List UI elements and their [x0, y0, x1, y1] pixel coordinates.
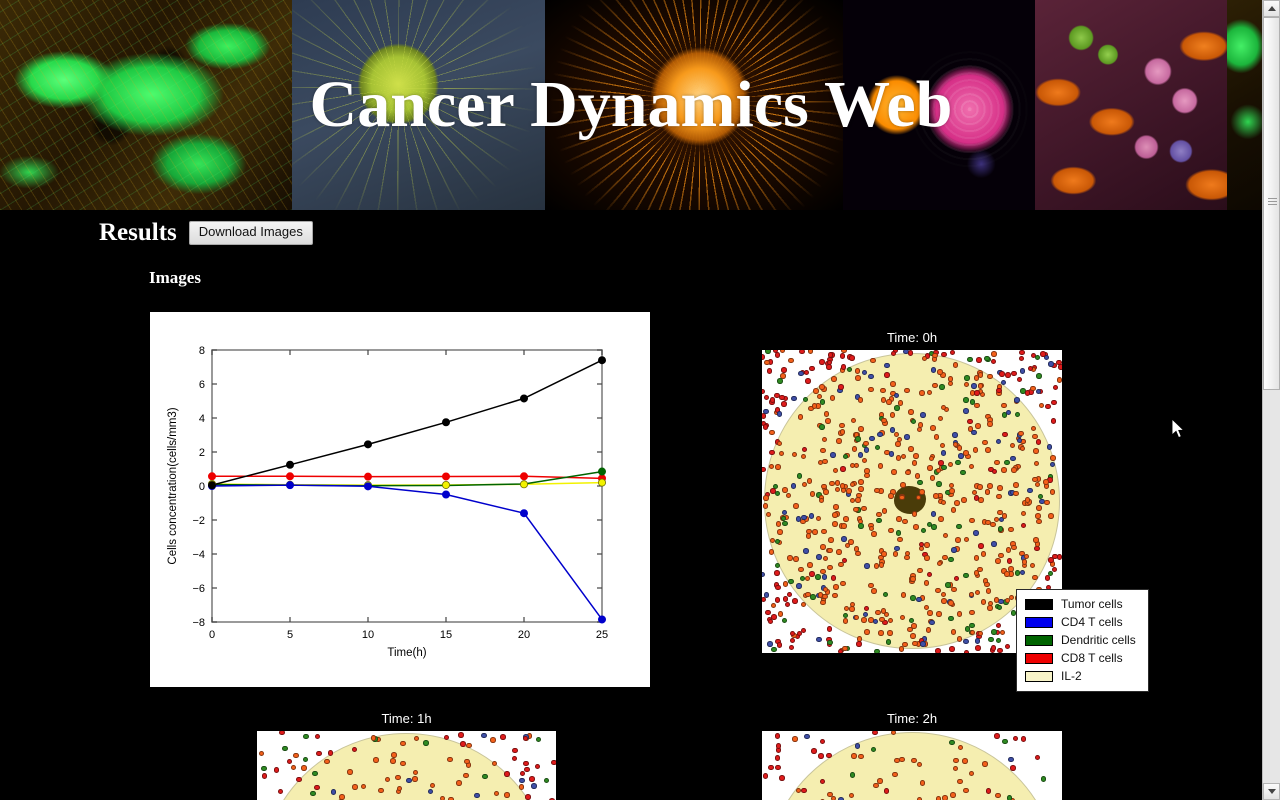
data-point — [520, 510, 527, 517]
cell-marker — [797, 473, 803, 479]
cell-marker — [994, 597, 1000, 603]
data-point — [598, 357, 605, 364]
cell-marker — [1000, 630, 1006, 636]
cell-marker — [1002, 739, 1008, 745]
cell-marker — [828, 537, 834, 543]
cell-marker — [1019, 350, 1025, 355]
cell-marker — [482, 774, 488, 780]
cell-marker — [880, 388, 886, 394]
cell-marker — [790, 638, 796, 644]
cell-marker — [352, 784, 358, 790]
cell-marker — [458, 732, 464, 738]
banner-tile-orange-spiky-cancer-cell — [545, 0, 843, 210]
cell-marker — [282, 746, 288, 752]
cell-marker — [771, 647, 777, 653]
cell-marker — [807, 562, 813, 568]
data-point — [286, 461, 293, 468]
cell-marker — [941, 352, 947, 358]
cell-marker — [1020, 368, 1026, 374]
cell-marker — [924, 580, 930, 586]
cell-marker — [871, 531, 877, 537]
cell-marker — [836, 549, 842, 555]
cell-marker — [948, 376, 954, 382]
cell-marker — [963, 788, 969, 794]
data-point — [598, 468, 605, 475]
data-point — [364, 473, 371, 480]
cell-marker — [464, 759, 470, 765]
data-point — [208, 473, 215, 480]
cell-marker — [884, 363, 890, 369]
cell-marker — [920, 780, 926, 786]
cell-marker — [971, 383, 977, 389]
cell-marker — [996, 494, 1002, 500]
cell-marker — [1035, 755, 1041, 761]
cell-marker — [524, 767, 530, 773]
simulation-title-0h: Time: 0h — [762, 330, 1062, 345]
cell-marker — [490, 737, 496, 743]
cell-marker — [833, 504, 839, 510]
page-scrollbar[interactable] — [1262, 0, 1280, 800]
cell-marker — [894, 758, 900, 764]
cell-marker — [987, 374, 993, 380]
cell-marker — [791, 483, 797, 489]
cell-marker — [830, 452, 836, 458]
cell-marker — [504, 771, 510, 777]
cell-marker — [917, 568, 923, 574]
data-point — [598, 616, 605, 623]
y-tick-label: 2 — [199, 447, 205, 459]
cell-marker — [873, 783, 879, 789]
y-tick-label: −8 — [192, 617, 205, 629]
cell-marker — [339, 794, 345, 800]
cell-marker — [893, 551, 899, 557]
cell-marker — [855, 375, 861, 381]
cell-marker — [1013, 736, 1019, 742]
cell-marker — [927, 610, 933, 616]
cell-marker — [801, 788, 807, 794]
simulation-canvas-1h[interactable] — [257, 731, 556, 800]
cell-marker — [891, 469, 897, 475]
cell-marker — [1036, 519, 1042, 525]
legend-swatch — [1025, 635, 1053, 646]
banner-tile-t-cell-attacking-tumour-cell — [843, 0, 1035, 210]
cell-marker — [536, 737, 542, 743]
cell-marker — [874, 563, 880, 569]
cell-marker — [858, 397, 864, 403]
cell-marker — [440, 796, 446, 800]
cell-marker — [890, 381, 896, 387]
cell-marker — [910, 633, 916, 639]
cell-marker — [1036, 505, 1042, 511]
cell-marker — [912, 511, 918, 517]
data-point — [442, 419, 449, 426]
cell-marker — [805, 378, 811, 384]
cell-marker — [810, 491, 816, 497]
cell-marker — [259, 751, 265, 757]
cell-marker — [849, 355, 855, 361]
cell-marker — [769, 549, 775, 555]
cell-marker — [957, 445, 963, 451]
cell-marker — [782, 487, 788, 493]
cell-marker — [833, 584, 839, 590]
cell-marker — [955, 537, 961, 543]
cell-marker — [1011, 545, 1017, 551]
cell-marker — [463, 773, 469, 779]
cell-marker — [913, 524, 919, 530]
cell-marker — [764, 360, 770, 366]
cell-marker — [296, 777, 302, 783]
simulation-panel-1h: Time: 1h — [257, 711, 556, 800]
cell-marker — [956, 524, 962, 530]
cell-marker — [815, 574, 821, 580]
cell-marker — [775, 755, 781, 761]
cell-marker — [840, 429, 846, 435]
cell-marker — [793, 556, 799, 562]
cell-marker — [293, 753, 299, 759]
cell-marker — [896, 516, 902, 522]
cell-marker — [1048, 513, 1054, 519]
cell-marker — [816, 637, 822, 643]
y-tick-label: 6 — [199, 379, 205, 391]
data-point — [520, 473, 527, 480]
cell-marker — [1040, 351, 1046, 357]
x-tick-label: 5 — [287, 629, 293, 641]
cell-marker — [978, 383, 984, 389]
cell-marker — [934, 434, 940, 440]
legend-item-label: Tumor cells — [1061, 597, 1123, 611]
cell-marker — [822, 574, 828, 580]
cell-marker — [899, 757, 905, 763]
cell-marker — [960, 470, 966, 476]
cell-marker — [291, 765, 297, 771]
cell-marker — [512, 748, 518, 754]
cell-marker — [763, 503, 769, 509]
cell-marker — [899, 495, 905, 501]
cell-marker — [809, 513, 815, 519]
cell-marker — [858, 452, 864, 458]
cell-marker — [826, 753, 832, 759]
cell-marker — [1008, 527, 1014, 533]
cell-marker — [1043, 479, 1049, 485]
cell-marker — [942, 795, 948, 800]
cell-marker — [997, 485, 1003, 491]
cell-marker — [855, 497, 861, 503]
cell-marker — [1018, 431, 1024, 437]
cell-marker — [400, 761, 406, 767]
y-tick-label: −6 — [192, 583, 205, 595]
mouse-cursor-icon — [1172, 419, 1186, 441]
results-header: Results Download Images — [99, 219, 313, 247]
cell-marker — [924, 542, 930, 548]
cell-marker — [385, 777, 391, 783]
cell-marker — [954, 500, 960, 506]
cell-marker — [996, 638, 1002, 644]
cell-marker — [303, 734, 309, 740]
cell-marker — [997, 648, 1003, 653]
cell-marker — [962, 758, 968, 764]
y-tick-label: 8 — [199, 345, 205, 357]
cell-marker — [1041, 776, 1047, 782]
cell-marker — [765, 350, 771, 354]
cell-marker — [886, 399, 892, 405]
legend-item-label: CD4 T cells — [1061, 615, 1123, 629]
cell-marker — [920, 641, 926, 647]
cell-marker — [831, 376, 837, 382]
cell-marker — [995, 793, 1001, 799]
cell-marker — [981, 599, 987, 605]
x-tick-label: 15 — [440, 629, 452, 641]
cell-marker — [975, 638, 981, 644]
cell-marker — [858, 479, 864, 485]
legend-swatch — [1025, 671, 1053, 682]
cell-marker — [400, 741, 406, 747]
cell-marker — [963, 450, 969, 456]
cell-marker — [820, 569, 826, 575]
cell-marker — [841, 536, 847, 542]
cell-marker — [949, 488, 955, 494]
data-point — [520, 395, 527, 402]
cell-marker — [882, 508, 888, 514]
cell-marker — [858, 426, 864, 432]
cell-marker — [998, 599, 1004, 605]
cell-marker — [941, 598, 947, 604]
cell-marker — [855, 436, 861, 442]
cell-marker — [872, 731, 878, 735]
cell-marker — [910, 576, 916, 582]
cell-marker — [278, 789, 284, 795]
cell-marker — [1001, 467, 1007, 473]
cell-marker — [876, 518, 882, 524]
cell-marker — [775, 765, 781, 771]
cell-marker — [991, 351, 997, 357]
cell-marker — [768, 765, 774, 771]
cell-marker — [1053, 385, 1059, 391]
cell-marker — [951, 587, 957, 593]
cell-marker — [963, 639, 969, 645]
cell-marker — [406, 778, 412, 784]
cell-marker — [1047, 444, 1053, 450]
cell-marker — [312, 771, 318, 777]
cell-marker — [971, 430, 977, 436]
cell-marker — [907, 627, 913, 633]
cell-marker — [951, 507, 957, 513]
cell-marker — [512, 756, 518, 762]
cell-marker — [812, 529, 818, 535]
cell-marker — [799, 350, 805, 354]
cell-marker — [930, 425, 936, 431]
cell-marker — [771, 603, 777, 609]
cell-marker — [809, 366, 815, 372]
cell-marker — [864, 629, 870, 635]
cell-marker — [806, 533, 812, 539]
cell-marker — [762, 572, 765, 578]
cell-marker — [1058, 364, 1062, 370]
cell-marker — [855, 551, 861, 557]
cell-marker — [998, 526, 1004, 532]
chart-svg: 0510152025−8−6−4−202468Time(h)Cells conc… — [150, 312, 650, 687]
cell-marker — [1011, 467, 1017, 473]
cell-marker — [991, 359, 997, 365]
cell-marker — [793, 503, 799, 509]
cell-marker — [779, 775, 785, 781]
cell-marker — [1017, 377, 1023, 383]
cell-marker — [777, 411, 783, 417]
cell-marker — [778, 611, 784, 617]
cell-marker — [819, 359, 825, 365]
banner-tile-yellow-green-metastatic-cell — [292, 0, 545, 210]
cell-marker — [777, 378, 783, 384]
cell-marker — [936, 796, 942, 800]
cell-marker — [933, 493, 939, 499]
series-line-cd4-t-cells — [212, 485, 602, 619]
banner-tile-green-fluorescent-cells-sliver — [1227, 0, 1262, 210]
cell-marker — [820, 739, 826, 745]
simulation-canvas-2h[interactable] — [762, 731, 1062, 800]
cell-marker — [949, 646, 955, 652]
cell-marker — [762, 413, 766, 419]
cell-marker — [775, 597, 781, 603]
scrollbar-track[interactable] — [1263, 17, 1280, 783]
cell-marker — [858, 523, 864, 529]
cell-marker — [813, 388, 819, 394]
cell-marker — [984, 356, 990, 362]
cell-marker — [863, 441, 869, 447]
data-point — [442, 491, 449, 498]
cell-marker — [801, 602, 807, 608]
cell-marker — [967, 357, 973, 363]
scroll-up-arrow-icon[interactable] — [1263, 0, 1280, 17]
y-tick-label: 0 — [199, 481, 205, 493]
cell-marker — [871, 588, 877, 594]
cell-marker — [861, 506, 867, 512]
cell-marker — [957, 611, 963, 617]
cell-marker — [767, 368, 773, 374]
cell-marker — [821, 529, 827, 535]
cell-marker — [466, 743, 472, 749]
cell-marker — [886, 639, 892, 645]
cell-marker — [838, 384, 844, 390]
cell-marker — [973, 447, 979, 453]
simulation-title-1h: Time: 1h — [257, 711, 556, 726]
scrollbar-thumb[interactable] — [1263, 17, 1280, 390]
cell-marker — [836, 438, 842, 444]
cell-marker — [525, 794, 531, 800]
cell-marker — [519, 778, 525, 784]
cell-marker — [975, 423, 981, 429]
cell-marker — [1007, 795, 1013, 800]
cell-marker — [982, 761, 988, 767]
cell-marker — [820, 544, 826, 550]
cell-marker — [529, 776, 535, 782]
cell-marker — [936, 611, 942, 617]
cell-marker — [1025, 497, 1031, 503]
y-tick-label: 4 — [199, 413, 205, 425]
cell-marker — [888, 528, 894, 534]
cell-marker — [913, 453, 919, 459]
cell-marker — [895, 441, 901, 447]
cell-marker — [937, 369, 943, 375]
y-axis-label: Cells concentration(cells/mm3) — [167, 407, 179, 564]
cell-marker — [819, 424, 825, 430]
cell-marker — [456, 780, 462, 786]
cell-marker — [1005, 372, 1011, 378]
cell-marker — [1033, 537, 1039, 543]
x-tick-label: 25 — [596, 629, 608, 641]
cell-marker — [1032, 477, 1038, 483]
cell-marker — [812, 403, 818, 409]
cell-marker — [1002, 432, 1008, 438]
cell-marker — [996, 623, 1002, 629]
cell-marker — [781, 401, 787, 407]
cell-marker — [827, 626, 833, 632]
cell-marker — [840, 466, 846, 472]
cell-marker — [460, 741, 466, 747]
cell-marker — [984, 582, 990, 588]
cell-marker — [990, 522, 996, 528]
cell-marker — [1035, 513, 1041, 519]
cell-marker — [1025, 390, 1031, 396]
cell-marker — [775, 585, 781, 591]
cell-marker — [261, 766, 267, 772]
cell-marker — [864, 563, 870, 569]
cell-marker — [908, 446, 914, 452]
cell-marker — [328, 750, 334, 756]
data-point — [208, 482, 215, 489]
cell-marker — [952, 432, 958, 438]
cell-marker — [1027, 488, 1033, 494]
cell-marker — [1004, 460, 1010, 466]
cell-marker — [775, 352, 781, 358]
cell-marker — [777, 441, 783, 447]
cell-marker — [830, 395, 836, 401]
cell-marker — [819, 384, 825, 390]
cell-marker — [950, 350, 956, 355]
cell-marker — [544, 778, 550, 784]
cell-marker — [783, 596, 789, 602]
cell-marker — [961, 497, 967, 503]
cell-marker — [810, 594, 816, 600]
scroll-down-arrow-icon[interactable] — [1263, 783, 1280, 800]
cell-marker — [987, 605, 993, 611]
cell-marker — [879, 562, 885, 568]
cell-marker — [901, 454, 907, 460]
cell-marker — [851, 753, 857, 759]
cell-marker — [890, 412, 896, 418]
cell-marker — [942, 555, 948, 561]
legend-item-label: Dendritic cells — [1061, 633, 1136, 647]
cell-marker — [831, 796, 837, 800]
cell-marker — [874, 488, 880, 494]
cell-marker — [839, 423, 845, 429]
cell-marker — [896, 530, 902, 536]
cell-marker — [785, 602, 791, 608]
cell-marker — [777, 529, 783, 535]
x-tick-label: 0 — [209, 629, 215, 641]
download-images-button[interactable]: Download Images — [189, 221, 313, 245]
page-root: Cancer Dynamics Web Results Download Ima… — [0, 0, 1280, 800]
cell-marker — [792, 736, 798, 742]
cell-marker — [798, 371, 804, 377]
cell-marker — [840, 483, 846, 489]
legend-item-label: CD8 T cells — [1061, 651, 1123, 665]
cell-marker — [970, 399, 976, 405]
legend-swatch — [1025, 653, 1053, 664]
cell-marker — [908, 350, 914, 356]
cell-marker — [963, 397, 969, 403]
cell-marker — [818, 753, 824, 759]
cell-marker — [877, 432, 883, 438]
cell-marker — [378, 788, 384, 794]
